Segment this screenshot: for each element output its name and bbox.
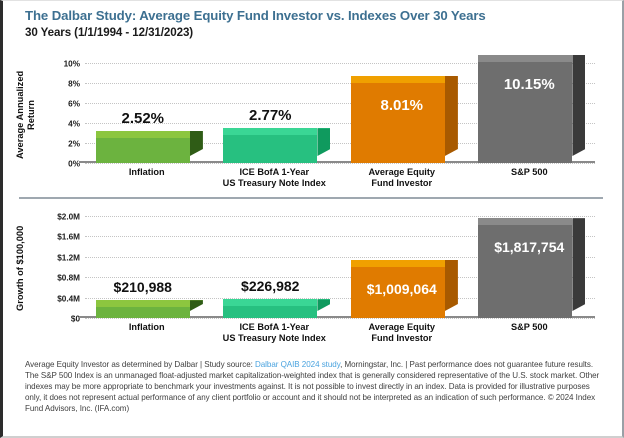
bar-teal: [223, 135, 317, 163]
bar-top-face: [96, 131, 190, 138]
bar-side-face: [445, 260, 458, 311]
bar-value-label: $1,009,064: [367, 281, 437, 297]
bar-value-label: $1,817,754: [494, 239, 564, 255]
bar-teal: [223, 306, 317, 318]
bar-side-face: [190, 300, 203, 311]
bar-green: [96, 138, 190, 163]
bar-front-face: [96, 138, 190, 163]
bar-side-face: [445, 76, 458, 156]
category-label-line: Average Equity: [368, 167, 435, 178]
bar-front-face: [223, 306, 317, 318]
gridline: $0: [85, 318, 595, 319]
chart-bottom-plot-area: $0$0.4M$0.8M$1.2M$1.6M$2.0M$210,988Infla…: [85, 210, 595, 318]
bar-top-face: [223, 299, 317, 306]
y-axis-tick-label: 2%: [68, 140, 80, 149]
bar-value-label: 2.52%: [121, 110, 164, 127]
page-subtitle: 30 Years (1/1/1994 - 12/31/2023): [25, 26, 193, 39]
bar-value-label: $210,988: [114, 279, 172, 295]
bar-top-face: [96, 300, 190, 307]
y-axis-tick-label: $1.6M: [57, 233, 80, 242]
bar-side-face: [572, 218, 585, 311]
category-label-line: Inflation: [129, 167, 165, 178]
y-axis-tick-label: 6%: [68, 100, 80, 109]
chart-top-plot-area: 0%2%4%6%8%10%2.52%Inflation2.77%ICE BofA…: [85, 57, 595, 163]
bar-orange: [351, 83, 445, 163]
category-label: ICE BofA 1-YearUS Treasury Note Index: [223, 167, 326, 189]
category-label: Inflation: [129, 167, 165, 178]
bar-top-face: [351, 260, 445, 267]
bar-top-face: [351, 76, 445, 83]
bar-side-face: [317, 128, 330, 156]
gridline: $2.0M: [85, 216, 595, 217]
category-label-line: US Treasury Note Index: [223, 333, 326, 344]
bar-top-face: [478, 218, 572, 225]
bar-side-face: [572, 55, 585, 157]
y-axis-tick-label: $0.8M: [57, 274, 80, 283]
category-label-line: US Treasury Note Index: [223, 178, 326, 189]
y-axis-tick-label: 4%: [68, 120, 80, 129]
bar-value-label: 2.77%: [249, 107, 292, 124]
bar-value-label: 10.15%: [504, 76, 555, 93]
category-label: S&P 500: [511, 322, 548, 333]
bar-top-face: [223, 128, 317, 135]
gridline: 0%: [85, 163, 595, 164]
bar-value-label: $226,982: [241, 278, 299, 294]
bar-value-label: 8.01%: [380, 97, 423, 114]
footnote-before-link: Average Equity Investor as determined by…: [25, 360, 255, 369]
bar-front-face: [96, 307, 190, 318]
bar-side-face: [317, 299, 330, 311]
chart-top-y-axis-title: Average Annualized Return: [15, 59, 41, 171]
footnote: Average Equity Investor as determined by…: [25, 359, 607, 414]
poster-frame: The Dalbar Study: Average Equity Fund In…: [0, 0, 624, 438]
y-axis-tick-label: $1.2M: [57, 253, 80, 262]
bar-side-face: [190, 131, 203, 156]
category-label-line: Inflation: [129, 322, 165, 333]
chart-bottom-y-axis-title: Growth of $100,000: [15, 209, 31, 327]
category-label: Inflation: [129, 322, 165, 333]
page-title: The Dalbar Study: Average Equity Fund In…: [25, 8, 486, 23]
y-axis-tick-label: 10%: [64, 60, 80, 69]
category-label-line: ICE BofA 1-Year: [223, 322, 326, 333]
bar-green: [96, 307, 190, 318]
category-label: Average EquityFund Investor: [368, 322, 435, 344]
category-label-line: ICE BofA 1-Year: [223, 167, 326, 178]
category-label-line: Fund Investor: [368, 333, 435, 344]
category-label: Average EquityFund Investor: [368, 167, 435, 189]
category-label-line: S&P 500: [511, 322, 548, 333]
category-label-line: Fund Investor: [368, 178, 435, 189]
y-axis-tick-label: $0.4M: [57, 294, 80, 303]
category-label: ICE BofA 1-YearUS Treasury Note Index: [223, 322, 326, 344]
category-label-line: Average Equity: [368, 322, 435, 333]
bar-top-face: [478, 55, 572, 62]
category-label-line: S&P 500: [511, 167, 548, 178]
dalbar-study-link[interactable]: Dalbar QAIB 2024 study: [255, 360, 340, 369]
category-label: S&P 500: [511, 167, 548, 178]
y-axis-tick-label: 8%: [68, 80, 80, 89]
panel-divider: [19, 197, 603, 199]
bar-front-face: [351, 83, 445, 163]
y-axis-tick-label: $2.0M: [57, 213, 80, 222]
bar-front-face: [223, 135, 317, 163]
